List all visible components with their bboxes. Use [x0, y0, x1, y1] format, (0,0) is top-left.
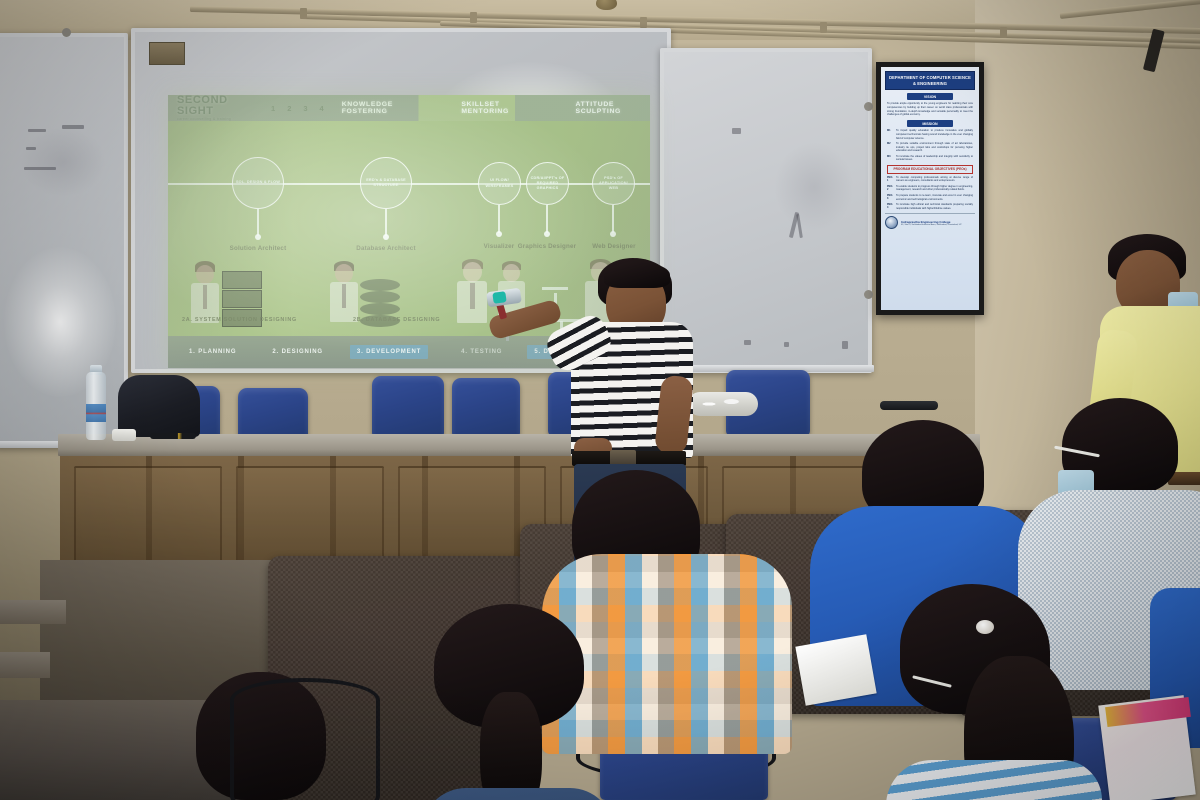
- node-stem: [385, 209, 387, 236]
- poster-peo-key: PEO-2: [887, 185, 894, 193]
- cable-coil: [688, 392, 758, 416]
- poster-mission-text: To provide suitable environment through …: [896, 142, 973, 153]
- seminar-hall-photo: SECOND SIGHT career counselling & traini…: [0, 0, 1200, 800]
- timeline-node-ui-wireframes: UI FLOW/ WIREFRAMES: [478, 162, 521, 205]
- conduit-clip: [470, 12, 477, 23]
- node-dot: [383, 234, 389, 240]
- node-dot: [610, 231, 616, 237]
- conduit-clip: [300, 8, 307, 19]
- slide-footer-tab-development: 3. DEVELOPMENT: [350, 345, 428, 359]
- node-dot: [544, 231, 550, 237]
- department-poster: DEPARTMENT OF COMPUTER SCIENCE & ENGINEE…: [881, 67, 979, 310]
- poster-vision-text: To provide ample opportunity to the youn…: [885, 102, 975, 117]
- poster-peo-item: PEO-4 To inculcate high ethical and tech…: [885, 203, 975, 211]
- node-dot: [255, 234, 261, 240]
- poster-mission-heading: MISSION: [907, 120, 953, 127]
- slide-step-4: 4: [320, 104, 324, 113]
- podium-table-top: [58, 434, 980, 456]
- poster-title: DEPARTMENT OF COMPUTER SCIENCE & ENGINEE…: [885, 71, 975, 90]
- poster-mission-item: M3 To inculcate the values of leadership…: [885, 155, 975, 163]
- poster-peo-key: PEO-4: [887, 203, 894, 211]
- timeline-node-label: ERD's & DATABASE STRUCTURE: [361, 178, 411, 188]
- poster-peo-heading: PROGRAM EDUCATIONAL OBJECTIVES (PEOs): [887, 165, 973, 173]
- timeline-node-label: UI FLOW/ WIREFRAMES: [479, 178, 520, 188]
- timeline-node-graphics: CDR/AI/PPT's OF REQUIRED GRAPHICS: [526, 162, 569, 205]
- hair-scrunchie: [976, 620, 994, 634]
- slide-step-3: 3: [303, 104, 307, 113]
- timeline-node-label: CDR/AI/PPT's OF REQUIRED GRAPHICS: [527, 176, 568, 191]
- poster-peo-item: PEO-1 To develop computing professionals…: [885, 176, 975, 184]
- timeline-node-solution-design: SOL. DESIGN & FLOW: [232, 157, 284, 209]
- node-stem: [498, 205, 500, 233]
- left-whiteboard: [0, 33, 128, 448]
- laser-pointer-tip: [492, 291, 506, 304]
- podium-panel: [74, 466, 222, 574]
- slide-footer-tab-planning: 1. PLANNING: [182, 345, 243, 359]
- slide-tab-skillset-mentoring: SKILLSET MENTORING: [461, 101, 537, 115]
- slide-brand-logo: SECOND SIGHT career counselling & traini…: [177, 95, 255, 121]
- node-stem: [257, 209, 259, 236]
- slide-phase-label-2a: 2A. SYSTEM SOLUTION DESIGNING: [182, 317, 297, 323]
- timeline-node-label: PSD's OF APPLICATION/ WEB: [593, 176, 634, 191]
- stage-chair: [372, 376, 444, 438]
- slide-step-2: 2: [287, 104, 291, 113]
- presentation-remote: [880, 401, 938, 410]
- poster-mission-key: M1: [887, 129, 894, 140]
- poster-peo-key: PEO-1: [887, 176, 894, 184]
- conduit-clip: [820, 22, 827, 33]
- node-stem: [612, 205, 614, 233]
- poster-peo-text: To enable students to progress through h…: [896, 185, 973, 193]
- conduit-clip: [1000, 27, 1007, 38]
- whiteboard-marker: [150, 433, 196, 439]
- slide-footer-tab-designing: 2. DESIGNING: [265, 345, 330, 359]
- poster-mission-key: M2: [887, 142, 894, 153]
- college-seal-icon: [885, 216, 898, 229]
- tissue-paper: [112, 429, 136, 441]
- slide-tab-knowledge-fostering: KNOWLEDGE FOSTERING: [342, 101, 428, 115]
- black-bag: [118, 375, 200, 437]
- poster-mission-text: To impart quality education to produce i…: [896, 129, 973, 140]
- department-poster-frame: DEPARTMENT OF COMPUTER SCIENCE & ENGINEE…: [876, 62, 984, 315]
- timeline-node-web-psd: PSD's OF APPLICATION/ WEB: [592, 162, 635, 205]
- slide-phase-label-2b: 2B. DATABASE DESIGNING: [353, 317, 440, 323]
- poster-vision-heading: VISION: [907, 93, 953, 100]
- stage-step: [0, 652, 50, 678]
- poster-peo-text: To inculcate high ethical and technical …: [896, 203, 973, 211]
- timeline-node-role: Database Architect: [346, 245, 426, 253]
- poster-mission-key: M3: [887, 155, 894, 163]
- timeline-node-label: SOL. DESIGN & FLOW: [234, 180, 282, 185]
- poster-mission-text: To inculcate the values of leadership an…: [896, 155, 973, 163]
- presenter-hair-top: [604, 262, 670, 288]
- poster-peo-item: PEO-2 To enable students to progress thr…: [885, 185, 975, 193]
- slide-brand-text: SECOND SIGHT: [177, 95, 228, 117]
- poster-peo-key: PEO-3: [887, 194, 894, 202]
- slide-footer-tab-testing: 4. TESTING: [454, 345, 509, 359]
- ponytail: [480, 692, 542, 800]
- poster-footer: Indraprastha Engineering College 63, Sit…: [885, 213, 975, 229]
- slide-step-numbers: 1 2 3 4: [271, 104, 324, 113]
- stage-step: [0, 600, 66, 624]
- ponytail-student-torso: [422, 788, 614, 800]
- slide-tab-attitude-sculpting: ATTITUDE SCULPTING: [575, 101, 650, 115]
- poster-college-address: 63, Site IV, Sahibabad Industrial Area, …: [901, 224, 962, 227]
- conduit-clip: [640, 17, 647, 28]
- node-stem: [546, 205, 548, 233]
- handout-papers: [795, 634, 876, 706]
- slide-step-1: 1: [271, 104, 275, 113]
- timeline-node-role: Graphics Designer: [514, 243, 580, 251]
- timeline-node-role: Solution Architect: [218, 245, 298, 253]
- whiteboard-name-plate: [149, 42, 185, 65]
- water-bottle-label: [86, 404, 106, 422]
- timeline-node-role: Web Designer: [582, 243, 646, 251]
- slide-top-nav: SECOND SIGHT career counselling & traini…: [168, 95, 650, 121]
- poster-mission-item: M2 To provide suitable environment throu…: [885, 142, 975, 153]
- stage-chair: [452, 378, 520, 438]
- poster-peo-item: PEO-3 To prepare students to re-learn, i…: [885, 194, 975, 202]
- slide-body: SOL. DESIGN & FLOW Solution Architect ER…: [168, 121, 650, 336]
- poster-mission-item: M1 To impart quality education to produc…: [885, 129, 975, 140]
- poster-peo-text: To develop computing professionals aimin…: [896, 176, 973, 184]
- poster-peo-text: To prepare students to re-learn, innovat…: [896, 194, 973, 202]
- chair-back-rail: [230, 678, 380, 800]
- striped-top-torso: [886, 760, 1102, 800]
- whiteboard-mount: [62, 28, 71, 37]
- right-whiteboard: [660, 48, 872, 373]
- timeline-node-database-structure: ERD's & DATABASE STRUCTURE: [360, 157, 412, 209]
- node-dot: [496, 231, 502, 237]
